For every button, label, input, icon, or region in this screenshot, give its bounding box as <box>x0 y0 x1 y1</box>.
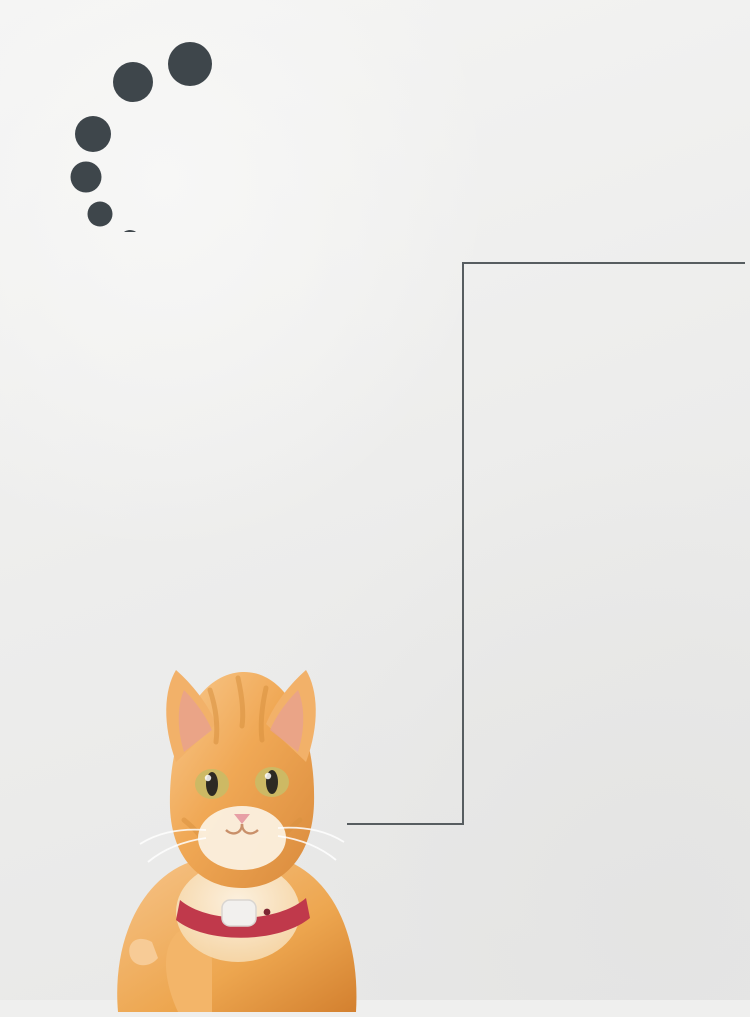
table-top-rule <box>462 262 745 264</box>
brand-logo <box>48 42 348 232</box>
ginger-cat-illustration <box>60 612 420 1012</box>
table-vertical-rule <box>462 262 464 825</box>
section-heading <box>474 186 750 219</box>
cat-photo <box>60 612 420 1012</box>
logo-dot-spiral-icon <box>48 42 348 232</box>
